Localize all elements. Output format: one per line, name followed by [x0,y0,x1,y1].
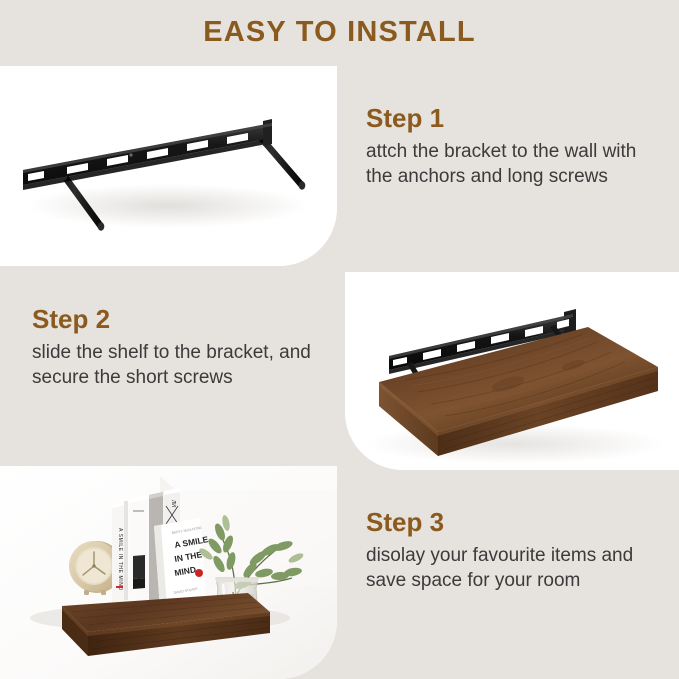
step-3-text: Step 3 disolay your favourite items and … [366,508,671,593]
step-1-text: Step 1 attch the bracket to the wall wit… [366,104,666,189]
svg-text:A SMILE IN THE MIND: A SMILE IN THE MIND [117,528,123,591]
step-3-heading: Step 3 [366,508,671,537]
step-2-heading: Step 2 [32,305,322,334]
book-item: A SMILE IN THE MIND [112,501,128,604]
step-1-image-panel [0,66,337,266]
page-title: EASY TO INSTALL [0,16,679,49]
step-2-body: slide the shelf to the bracket, and secu… [32,340,322,390]
svg-text:ЛИ: ЛИ [170,500,176,507]
book-item [129,495,148,605]
step-2-image-panel [345,272,679,470]
infographic-page: EASY TO INSTALL [0,0,679,679]
step-3-body: disolay your favourite items and save sp… [366,543,671,593]
step-2-text: Step 2 slide the shelf to the bracket, a… [32,305,322,390]
step-1-body: attch the bracket to the wall with the a… [366,139,666,189]
bracket-illustration [0,66,337,266]
step-3-image-panel: A SMILE IN THE MIND THE [0,466,337,679]
step-1-heading: Step 1 [366,104,666,133]
styled-shelf-illustration: A SMILE IN THE MIND THE [0,466,337,679]
shelf-with-bracket-illustration [345,272,679,470]
